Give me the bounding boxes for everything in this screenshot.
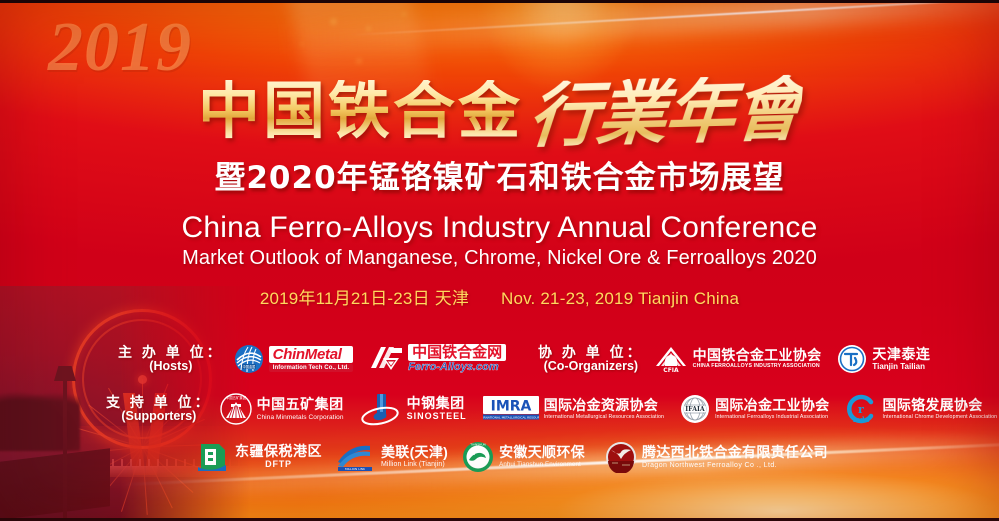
logo-anhui-tianshun[interactable]: TIANSHUN 安徽天顺环保 Anhui Tianshun Environme… <box>462 441 585 473</box>
logo-dragon-northwest[interactable]: 腾达西北铁合金有限责任公司 Dragon Northwest Ferroallo… <box>605 441 828 473</box>
supporters-row-1: 支 持 单 位： (Supporters) 中国五矿集团 <box>106 392 997 426</box>
hosts-label-cn: 主 办 单 位： <box>118 345 224 360</box>
title-english-line1: China Ferro-Alloys Industry Annual Confe… <box>0 211 999 245</box>
ferroalloys-name-en: Ferro-Alloys.com <box>408 362 506 374</box>
logo-dftp[interactable]: 东疆保税港区 DFTP <box>196 440 322 474</box>
minmetals-seal-icon: 中国五矿集团 <box>220 393 252 425</box>
ifaia-name-en: International Ferroalloys Industrial Ass… <box>715 415 829 421</box>
co-organizers-label-en: (Co-Organizers) <box>538 360 644 373</box>
tianshun-wordmark: 安徽天顺环保 Anhui Tianshun Environment <box>499 445 585 469</box>
svg-text:IMRA: IMRA <box>490 399 531 415</box>
logo-chinmetal[interactable]: 中国金属 ChinMetal Information Tech Co., Ltd… <box>234 344 353 374</box>
hosts-label-en: (Hosts) <box>118 360 224 373</box>
cfia-name-en: CHINA FERROALLOYS INDUSTRY ASSOCIATION <box>693 364 822 370</box>
minmetals-name-cn: 中国五矿集团 <box>257 397 344 412</box>
supporters-label: 支 持 单 位： (Supporters) <box>106 395 212 423</box>
svg-text:INTERNATIONAL METALLURGICAL RE: INTERNATIONAL METALLURGICAL RESOURCES <box>483 416 539 420</box>
icda-wordmark: 国际铬发展协会 International Chrome Development… <box>882 398 997 421</box>
tianjin-tailian-tl-icon <box>837 344 867 374</box>
icda-name-cn: 国际铬发展协会 <box>882 398 997 413</box>
event-date-chinese: 2019年11月21日-23日 天津 <box>260 289 469 308</box>
tianshun-name-cn: 安徽天顺环保 <box>499 445 585 460</box>
imra-wordmark-icon: IMRA INTERNATIONAL METALLURGICAL RESOURC… <box>483 396 539 422</box>
ferroalloys-wordmark: 中国铁合金网 Ferro-Alloys.com <box>408 344 506 374</box>
ferroalloys-name-cn: 中国铁合金网 <box>408 344 506 361</box>
cfia-name-cn: 中国铁合金工业协会 <box>693 348 822 363</box>
svg-text:中国金属: 中国金属 <box>242 364 255 369</box>
ferroalloys-arrow-icon <box>369 344 403 374</box>
bokeh-dot <box>300 42 304 46</box>
imra-wordmark-text: 国际冶金资源协会 International Metallurgical Res… <box>544 398 664 421</box>
logo-million-link[interactable]: MILLION LINK 美联(天津) Million Link (Tianji… <box>336 442 448 472</box>
million-link-name-cn: 美联(天津) <box>381 445 448 460</box>
top-edge-border <box>0 0 999 3</box>
logo-imra[interactable]: IMRA INTERNATIONAL METALLURGICAL RESOURC… <box>483 396 664 422</box>
dragon-northwest-name-cn: 腾达西北铁合金有限责任公司 <box>642 445 828 460</box>
title-chinese-gold: 中国铁合金 <box>198 80 523 142</box>
supporters-label-cn: 支 持 单 位： <box>106 395 212 410</box>
sinosteel-name-en: SINOSTEEL <box>407 412 467 422</box>
cfia-arch-icon: CFIA <box>654 344 688 374</box>
svg-text:CFIA: CFIA <box>663 367 679 374</box>
million-link-wordmark: 美联(天津) Million Link (Tianjin) <box>381 445 448 469</box>
headline-block: 中国铁合金 行業年會 暨2020年锰铬镍矿石和铁合金市场展望 China Fer… <box>0 60 999 309</box>
logo-china-minmetals[interactable]: 中国五矿集团 中国五矿集团 China Minmetals Corporatio… <box>220 393 344 425</box>
dragon-northwest-name-en: Dragon Northwest Ferroalloy Co ., Ltd. <box>642 462 828 470</box>
ifaia-wordmark: 国际冶金工业协会 International Ferroalloys Indus… <box>715 398 829 421</box>
logo-ferroalloys[interactable]: 中国铁合金网 Ferro-Alloys.com <box>369 344 506 374</box>
svg-text:icda: icda <box>853 415 870 424</box>
conference-banner: 2019 中国铁合金 行業年會 暨2020年锰铬镍矿石和铁合金市场展望 Chin… <box>0 0 999 521</box>
chinmetal-sub: Information Tech Co., Ltd. <box>269 364 353 372</box>
co-organizers-row: 协 办 单 位： (Co-Organizers) CFIA 中国铁合金工业协会 … <box>538 344 930 374</box>
sinosteel-wordmark: 中钢集团 SINOSTEEL <box>407 396 467 422</box>
million-link-name-en: Million Link (Tianjin) <box>381 461 448 469</box>
sinosteel-ellipse-icon <box>360 392 402 426</box>
tailian-name-cn: 天津泰连 <box>872 347 930 362</box>
event-date-line: 2019年11月21日-23日 天津 Nov. 21-23, 2019 Tian… <box>0 284 999 309</box>
supporters-label-en: (Supporters) <box>106 410 212 423</box>
supporters-row-2: 东疆保税港区 DFTP MILLION LINK 美联(天津) Million <box>196 440 828 474</box>
icda-name-en: International Chrome Development Associa… <box>882 415 997 421</box>
sinosteel-name-cn: 中钢集团 <box>407 396 467 411</box>
icda-cr-icon: r icda <box>845 393 877 425</box>
svg-text:TIANSHUN: TIANSHUN <box>469 443 486 447</box>
logo-sinosteel[interactable]: 中钢集团 SINOSTEEL <box>360 392 467 426</box>
svg-text:IFAIA: IFAIA <box>685 406 705 413</box>
subtitle-chinese: 暨2020年锰铬镍矿石和铁合金市场展望 <box>0 152 999 197</box>
tianshun-green-circle-icon: TIANSHUN <box>462 441 494 473</box>
logo-ifaia[interactable]: IFAIA 国际冶金工业协会 International Ferroalloys… <box>680 394 829 424</box>
svg-text:中国五矿集团: 中国五矿集团 <box>226 395 247 400</box>
chinmetal-wordmark: ChinMetal Information Tech Co., Ltd. <box>269 346 353 372</box>
svg-text:MILLION LINK: MILLION LINK <box>345 467 366 471</box>
imra-name-en: International Metallurgical Resources As… <box>544 415 664 421</box>
logo-icda[interactable]: r icda 国际铬发展协会 International Chrome Deve… <box>845 393 997 425</box>
dftp-name-cn: 东疆保税港区 <box>235 444 322 459</box>
dftp-wordmark: 东疆保税港区 DFTP <box>235 444 322 470</box>
logo-tianjin-tailian[interactable]: 天津泰连 Tianjin Tailian <box>837 344 930 374</box>
minmetals-wordmark: 中国五矿集团 China Minmetals Corporation <box>257 397 344 421</box>
ifaia-name-cn: 国际冶金工业协会 <box>715 398 829 413</box>
title-english-line2: Market Outlook of Manganese, Chrome, Nic… <box>0 247 999 270</box>
main-title-row: 中国铁合金 行業年會 <box>0 60 999 142</box>
event-date-english: Nov. 21-23, 2019 Tianjin China <box>501 289 739 308</box>
minmetals-name-en: China Minmetals Corporation <box>257 414 344 421</box>
bokeh-dot <box>402 12 406 16</box>
logo-cfia[interactable]: CFIA 中国铁合金工业协会 CHINA FERROALLOYS INDUSTR… <box>654 344 822 374</box>
dftp-name-en: DFTP <box>235 460 322 470</box>
sponsors-block: 主 办 单 位： (Hosts) 中国金属 <box>0 330 999 521</box>
cfia-wordmark: 中国铁合金工业协会 CHINA FERROALLOYS INDUSTRY ASS… <box>693 348 822 370</box>
co-organizers-label-cn: 协 办 单 位： <box>538 345 644 360</box>
tailian-name-en: Tianjin Tailian <box>872 363 930 372</box>
hosts-label: 主 办 单 位： (Hosts) <box>118 345 224 373</box>
million-link-wave-icon: MILLION LINK <box>336 442 376 472</box>
dftp-gate-icon <box>196 440 230 474</box>
bokeh-dot <box>366 26 371 31</box>
dragon-northwest-wordmark: 腾达西北铁合金有限责任公司 Dragon Northwest Ferroallo… <box>642 445 828 470</box>
bokeh-dot <box>330 18 337 25</box>
tianjin-tailian-wordmark: 天津泰连 Tianjin Tailian <box>872 347 930 372</box>
chinmetal-globe-icon: 中国金属 <box>234 344 264 374</box>
chinmetal-name: ChinMetal <box>269 346 353 363</box>
hosts-row: 主 办 单 位： (Hosts) 中国金属 <box>118 344 506 374</box>
ifaia-globe-icon: IFAIA <box>680 394 710 424</box>
dragon-northwest-bird-icon <box>605 441 637 473</box>
title-chinese-calligraphy: 行業年會 <box>526 74 804 151</box>
co-organizers-label: 协 办 单 位： (Co-Organizers) <box>538 345 644 373</box>
imra-name-cn: 国际冶金资源协会 <box>544 398 664 413</box>
tianshun-name-en: Anhui Tianshun Environment <box>499 462 585 469</box>
